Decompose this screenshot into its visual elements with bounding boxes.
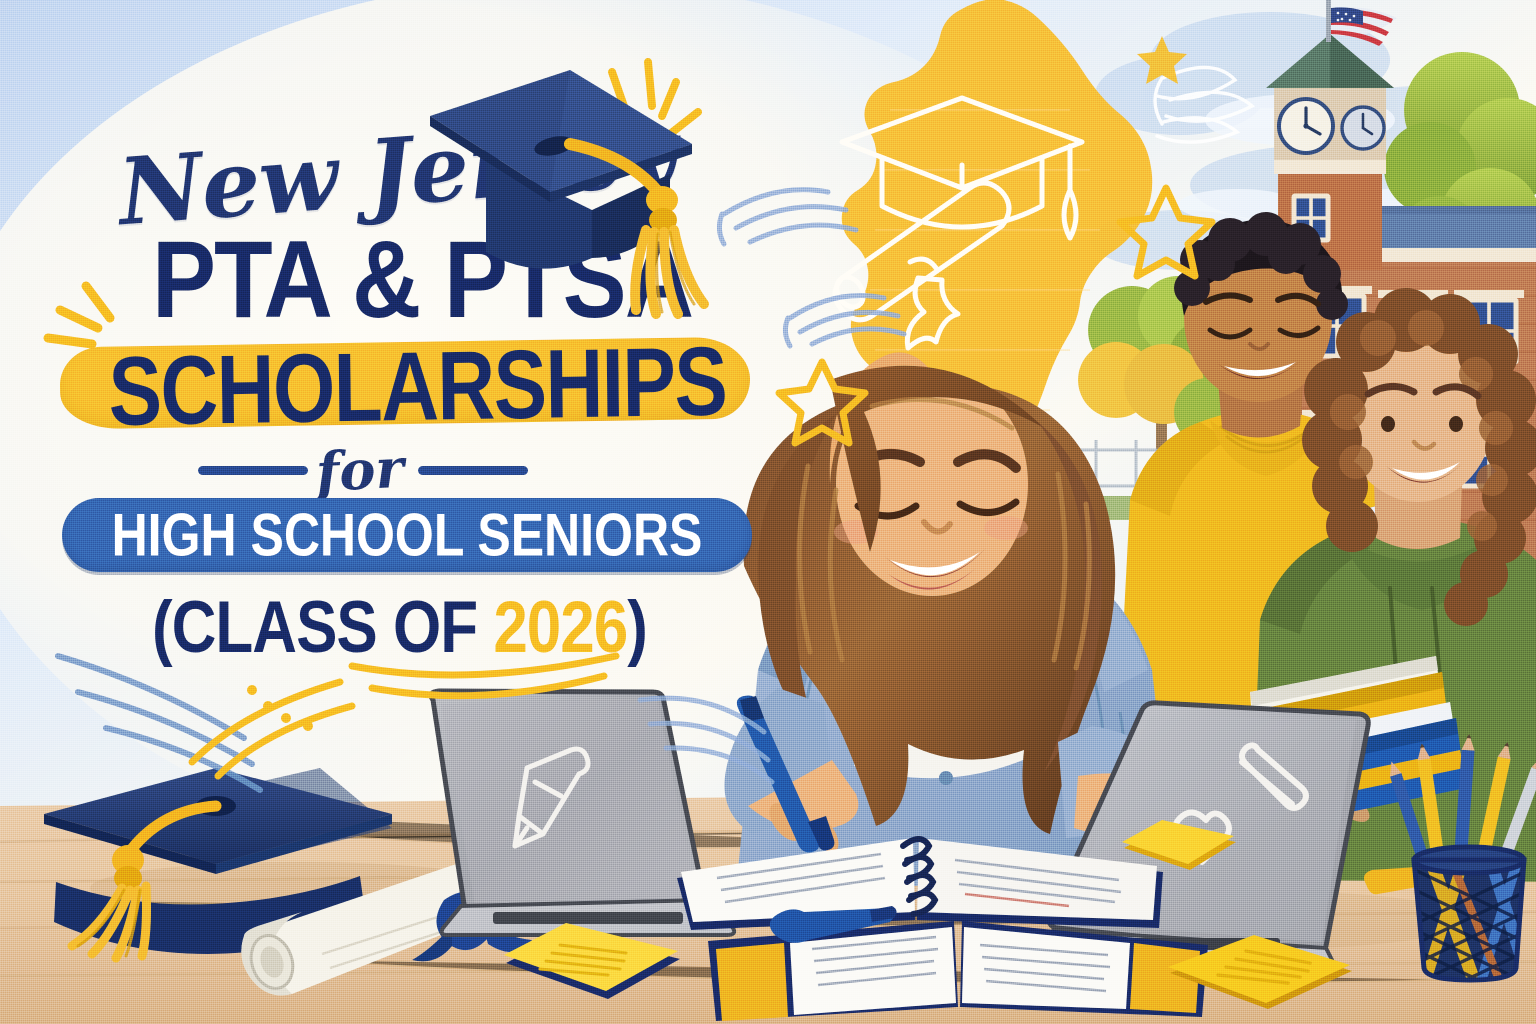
audience-text: HIGH SCHOOL SENIORS: [112, 500, 703, 570]
audience-pill: HIGH SCHOOL SENIORS: [62, 498, 752, 572]
star-icon: [1120, 188, 1212, 276]
connector-word: for: [314, 436, 405, 505]
class-prefix: (CLASS OF: [152, 587, 493, 668]
star-icon: [779, 362, 865, 443]
divider-rule-right: [418, 466, 528, 475]
graduation-cap-title-icon: [420, 58, 720, 358]
poster-canvas: New Jersey PTA & PTSA SCHOLARSHIPS for H…: [0, 0, 1536, 1024]
class-line: (CLASS OF 2026): [152, 586, 647, 670]
motion-swoosh-icon: [640, 698, 772, 782]
class-suffix: ): [627, 587, 647, 668]
motion-swoosh-icon: [785, 296, 904, 347]
divider-rule-left: [198, 466, 308, 475]
star-icon: [1137, 36, 1187, 84]
class-year: 2026: [493, 587, 627, 668]
